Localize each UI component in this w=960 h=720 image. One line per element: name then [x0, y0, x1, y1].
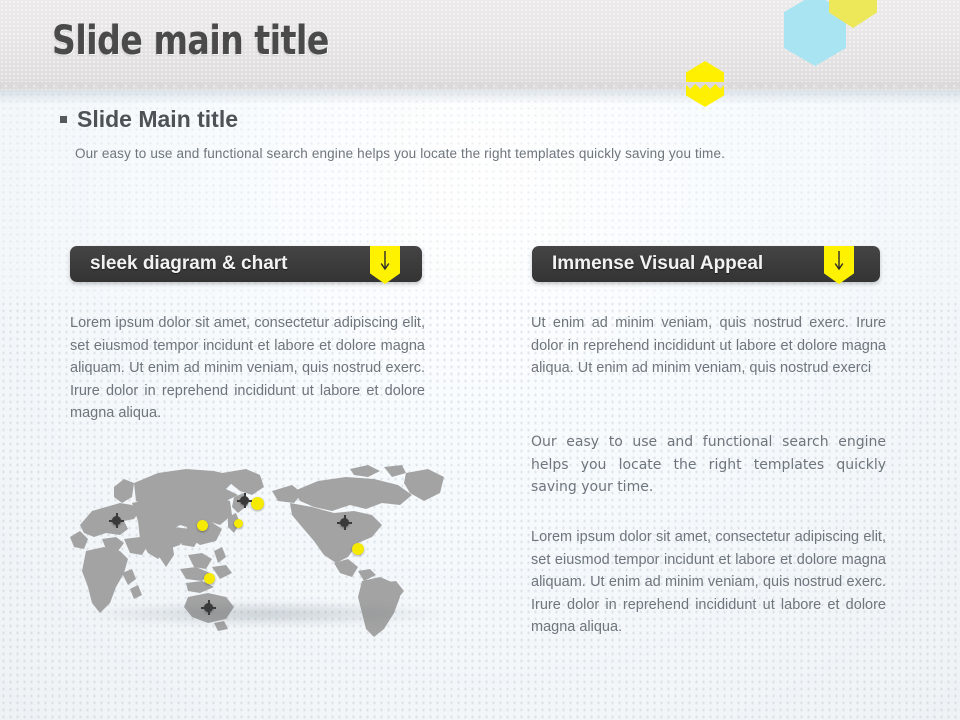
down-arrow-icon [832, 250, 846, 272]
banner-right[interactable]: Immense Visual Appeal [532, 246, 880, 282]
banner-left[interactable]: sleek diagram & chart [70, 246, 422, 282]
down-arrow-icon [378, 250, 392, 272]
pin-usa [340, 518, 349, 527]
slide-canvas: Slide main title Slide Main title Our ea… [0, 0, 960, 720]
banner-left-label: sleek diagram & chart [90, 253, 287, 275]
page-title: Slide main title [52, 18, 329, 64]
world-map [62, 463, 462, 638]
marker-indonesia [204, 573, 215, 584]
zigzag-divider [0, 82, 960, 91]
square-bullet-icon [60, 116, 67, 123]
slide-header: Slide main title [0, 0, 960, 90]
banner-right-badge[interactable] [824, 246, 854, 284]
marker-east-asia [197, 520, 208, 531]
marker-japan [234, 519, 243, 528]
subhead-description: Our easy to use and functional search en… [75, 146, 897, 161]
banner-left-badge[interactable] [370, 246, 400, 284]
pin-australia [204, 603, 213, 612]
zigzag-shadow [0, 90, 960, 104]
pin-europe [112, 516, 121, 525]
marker-north-america [352, 543, 364, 555]
subhead-group: Slide Main title [60, 106, 238, 133]
banner-right-label: Immense Visual Appeal [552, 253, 763, 275]
right-column-paragraph-1: Ut enim ad minim veniam, quis nostrud ex… [531, 312, 886, 380]
marker-kamchatka [251, 497, 264, 510]
map-shadow [80, 601, 450, 627]
right-column-paragraph-2: Our easy to use and functional search en… [531, 431, 886, 499]
pin-kamchatka [240, 496, 249, 505]
hexagon-yellow-top-icon [829, 0, 877, 28]
subhead-title: Slide Main title [77, 106, 238, 133]
right-column-paragraph-3: Lorem ipsum dolor sit amet, consectetur … [531, 526, 886, 639]
left-column-paragraph: Lorem ipsum dolor sit amet, consectetur … [70, 312, 425, 425]
